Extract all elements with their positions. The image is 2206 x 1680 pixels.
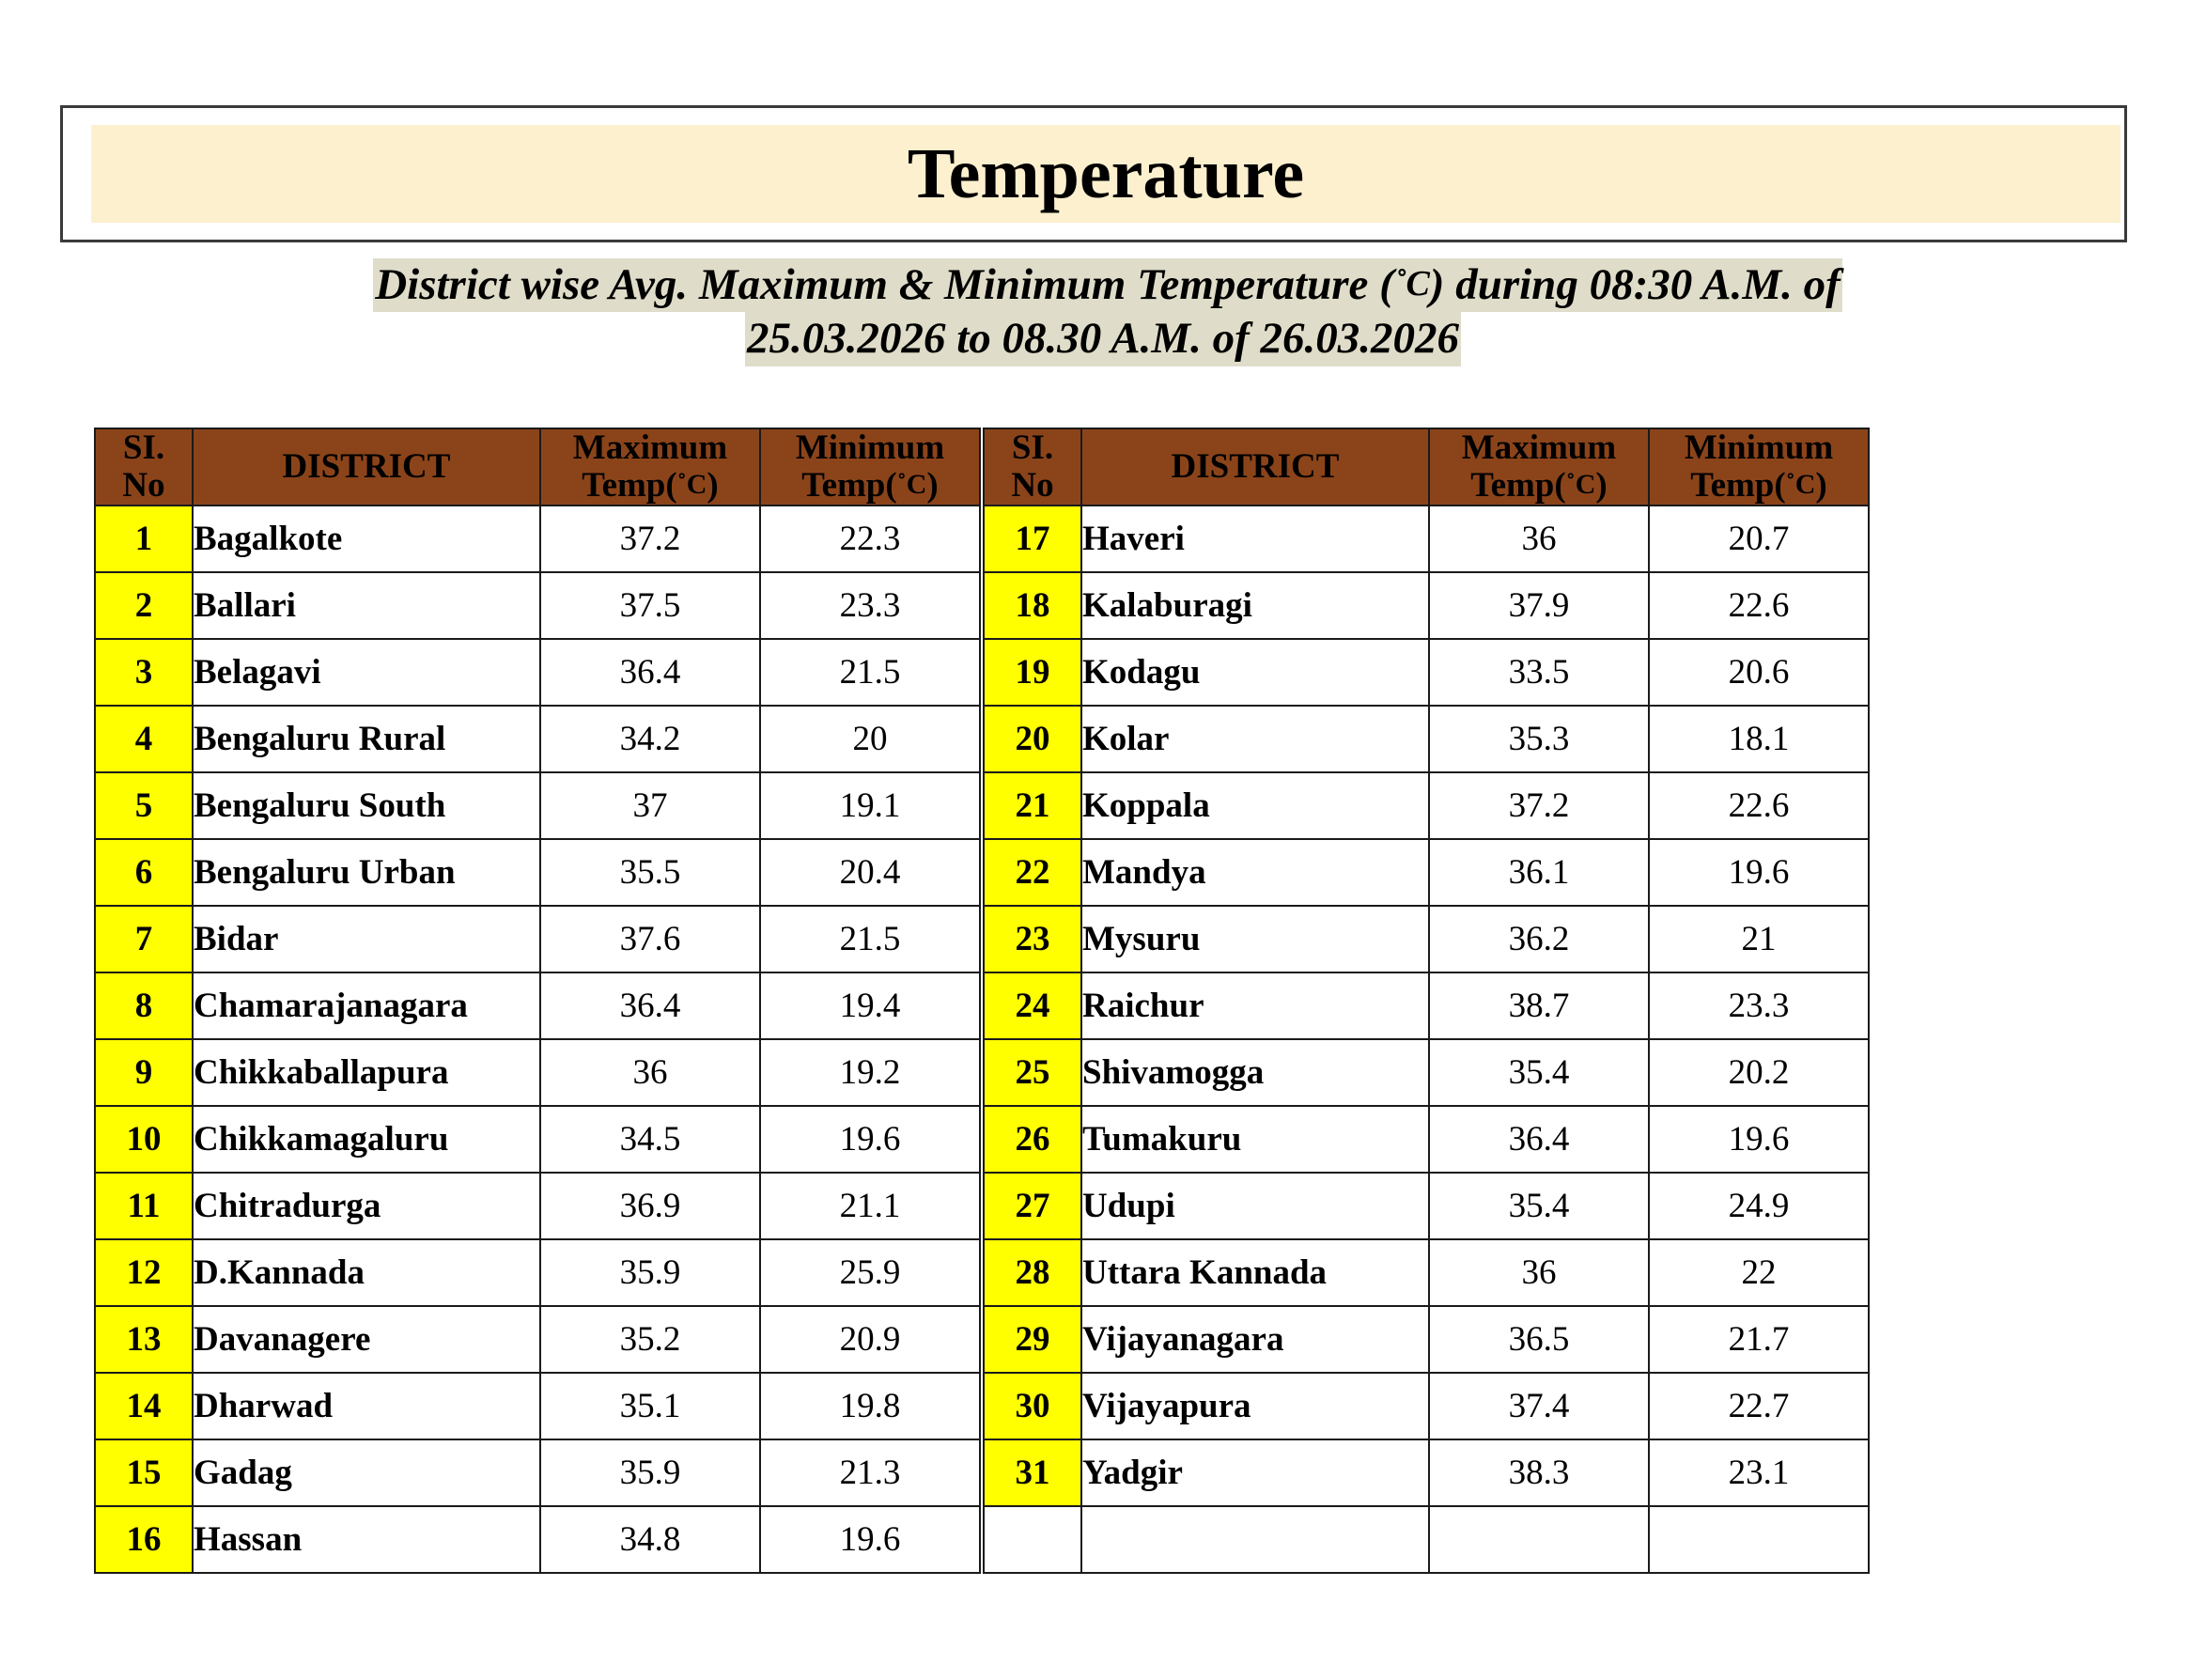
cell-district: Vijayanagara	[1081, 1306, 1429, 1373]
cell-max-temp: 35.9	[540, 1439, 760, 1506]
cell-max-temp: 37	[540, 772, 760, 839]
cell-min-temp: 20.6	[1649, 639, 1869, 706]
table-row: 19Kodagu33.520.6	[984, 639, 1869, 706]
cell-empty	[1429, 1506, 1649, 1573]
cell-min-temp: 19.6	[1649, 1106, 1869, 1173]
header-min-line2-pre: Temp(	[801, 466, 896, 505]
cell-district: Bengaluru South	[193, 772, 540, 839]
cell-max-temp: 37.9	[1429, 572, 1649, 639]
cell-sl-no: 8	[95, 972, 193, 1039]
table-row: 13Davanagere35.220.9	[95, 1306, 980, 1373]
cell-district: Mysuru	[1081, 906, 1429, 972]
cell-max-temp: 33.5	[1429, 639, 1649, 706]
cell-min-temp: 19.4	[760, 972, 980, 1039]
cell-district: Hassan	[193, 1506, 540, 1573]
title-banner-inner: Temperature	[91, 125, 2121, 223]
table-header-right: SI.No DISTRICT MaximumTemp(˚C) MinimumTe…	[984, 428, 1869, 506]
cell-min-temp: 21.3	[760, 1439, 980, 1506]
cell-district: Belagavi	[193, 639, 540, 706]
cell-sl-no: 6	[95, 839, 193, 906]
cell-sl-no: 16	[95, 1506, 193, 1573]
cell-min-temp: 24.9	[1649, 1173, 1869, 1239]
table-row: 23Mysuru36.221	[984, 906, 1869, 972]
header-max-line2-pre: Temp(	[1470, 466, 1565, 505]
cell-min-temp: 20.2	[1649, 1039, 1869, 1106]
cell-min-temp: 19.1	[760, 772, 980, 839]
cell-district: Yadgir	[1081, 1439, 1429, 1506]
temperature-report-page: Temperature District wise Avg. Maximum &…	[0, 0, 2206, 1680]
cell-empty	[1649, 1506, 1869, 1573]
header-district-left: DISTRICT	[193, 428, 540, 506]
table-body-left: 1Bagalkote37.222.32Ballari37.523.33Belag…	[95, 506, 980, 1573]
cell-sl-no: 21	[984, 772, 1081, 839]
cell-max-temp: 34.8	[540, 1506, 760, 1573]
cell-sl-no: 4	[95, 706, 193, 772]
cell-sl-no: 10	[95, 1106, 193, 1173]
cell-max-temp: 36	[1429, 1239, 1649, 1306]
table-row: 8Chamarajanagara36.419.4	[95, 972, 980, 1039]
table-row: 10Chikkamagaluru34.519.6	[95, 1106, 980, 1173]
header-min-line2-pre: Temp(	[1690, 466, 1785, 505]
cell-district: Bengaluru Rural	[193, 706, 540, 772]
header-sl-no-left: SI.No	[95, 428, 193, 506]
cell-min-temp: 23.3	[1649, 972, 1869, 1039]
cell-min-temp: 22.6	[1649, 772, 1869, 839]
cell-min-temp: 20.4	[760, 839, 980, 906]
cell-min-temp: 19.6	[760, 1106, 980, 1173]
table-row-spacer	[984, 1506, 1869, 1573]
header-max-temp-left: MaximumTemp(˚C)	[540, 428, 760, 506]
cell-sl-no: 17	[984, 506, 1081, 572]
cell-max-temp: 38.7	[1429, 972, 1649, 1039]
table-row: 14Dharwad35.119.8	[95, 1373, 980, 1439]
cell-min-temp: 18.1	[1649, 706, 1869, 772]
cell-sl-no: 26	[984, 1106, 1081, 1173]
cell-sl-no: 9	[95, 1039, 193, 1106]
cell-sl-no: 28	[984, 1239, 1081, 1306]
cell-district: Kalaburagi	[1081, 572, 1429, 639]
cell-sl-no: 27	[984, 1173, 1081, 1239]
table-row: 11Chitradurga36.921.1	[95, 1173, 980, 1239]
page-title: Temperature	[908, 138, 1304, 210]
table-row: 4Bengaluru Rural34.220	[95, 706, 980, 772]
cell-district: Udupi	[1081, 1173, 1429, 1239]
cell-max-temp: 36.1	[1429, 839, 1649, 906]
title-banner: Temperature	[60, 105, 2127, 242]
cell-sl-no: 3	[95, 639, 193, 706]
header-sl-line2: No	[1011, 466, 1053, 505]
cell-min-temp: 22.6	[1649, 572, 1869, 639]
table-row: 2Ballari37.523.3	[95, 572, 980, 639]
table-row: 1Bagalkote37.222.3	[95, 506, 980, 572]
cell-min-temp: 20	[760, 706, 980, 772]
cell-min-temp: 21.1	[760, 1173, 980, 1239]
cell-district: Mandya	[1081, 839, 1429, 906]
cell-sl-no: 7	[95, 906, 193, 972]
cell-empty	[984, 1506, 1081, 1573]
degree-celsius-icon: ˚C	[897, 469, 927, 500]
degree-celsius-icon: ˚C	[677, 469, 707, 500]
header-row-left: SI.No DISTRICT MaximumTemp(˚C) MinimumTe…	[95, 428, 980, 506]
cell-sl-no: 1	[95, 506, 193, 572]
cell-sl-no: 20	[984, 706, 1081, 772]
header-min-line2-post: )	[926, 466, 938, 505]
header-max-line1: Maximum	[573, 428, 727, 467]
cell-min-temp: 23.1	[1649, 1439, 1869, 1506]
cell-min-temp: 25.9	[760, 1239, 980, 1306]
header-row-right: SI.No DISTRICT MaximumTemp(˚C) MinimumTe…	[984, 428, 1869, 506]
header-max-line2-pre: Temp(	[582, 466, 676, 505]
header-max-line2-post: )	[707, 466, 718, 505]
cell-max-temp: 36.2	[1429, 906, 1649, 972]
cell-max-temp: 35.4	[1429, 1173, 1649, 1239]
cell-max-temp: 35.5	[540, 839, 760, 906]
cell-min-temp: 22	[1649, 1239, 1869, 1306]
cell-max-temp: 36.9	[540, 1173, 760, 1239]
table-row: 3Belagavi36.421.5	[95, 639, 980, 706]
temperature-table-right: SI.No DISTRICT MaximumTemp(˚C) MinimumTe…	[983, 428, 1870, 1574]
cell-sl-no: 11	[95, 1173, 193, 1239]
cell-min-temp: 19.6	[760, 1506, 980, 1573]
table-row: 29Vijayanagara36.521.7	[984, 1306, 1869, 1373]
cell-district: Chikkaballapura	[193, 1039, 540, 1106]
cell-max-temp: 37.4	[1429, 1373, 1649, 1439]
subtitle-block: District wise Avg. Maximum & Minimum Tem…	[0, 258, 2206, 366]
cell-sl-no: 18	[984, 572, 1081, 639]
cell-min-temp: 22.7	[1649, 1373, 1869, 1439]
cell-sl-no: 14	[95, 1373, 193, 1439]
cell-max-temp: 35.2	[540, 1306, 760, 1373]
cell-min-temp: 19.6	[1649, 839, 1869, 906]
header-district-right: DISTRICT	[1081, 428, 1429, 506]
table-row: 31Yadgir38.323.1	[984, 1439, 1869, 1506]
header-min-line2-post: )	[1815, 466, 1826, 505]
table-row: 7Bidar37.621.5	[95, 906, 980, 972]
cell-max-temp: 37.2	[540, 506, 760, 572]
table-row: 22Mandya36.119.6	[984, 839, 1869, 906]
cell-min-temp: 19.8	[760, 1373, 980, 1439]
degree-celsius-symbol: ˚C	[1394, 264, 1430, 303]
header-min-line1: Minimum	[1685, 428, 1833, 467]
table-row: 27Udupi35.424.9	[984, 1173, 1869, 1239]
cell-max-temp: 37.5	[540, 572, 760, 639]
cell-district: Bidar	[193, 906, 540, 972]
cell-max-temp: 34.5	[540, 1106, 760, 1173]
cell-district: Vijayapura	[1081, 1373, 1429, 1439]
cell-empty	[1081, 1506, 1429, 1573]
subtitle-line-1: District wise Avg. Maximum & Minimum Tem…	[373, 258, 1842, 312]
cell-sl-no: 5	[95, 772, 193, 839]
cell-max-temp: 35.4	[1429, 1039, 1649, 1106]
cell-district: Gadag	[193, 1439, 540, 1506]
cell-district: Chitradurga	[193, 1173, 540, 1239]
cell-district: Raichur	[1081, 972, 1429, 1039]
cell-sl-no: 23	[984, 906, 1081, 972]
table-row: 18Kalaburagi37.922.6	[984, 572, 1869, 639]
cell-min-temp: 21.5	[760, 906, 980, 972]
tables-area: SI.No DISTRICT MaximumTemp(˚C) MinimumTe…	[94, 428, 2123, 1574]
cell-max-temp: 36.4	[540, 639, 760, 706]
cell-max-temp: 38.3	[1429, 1439, 1649, 1506]
table-row: 15Gadag35.921.3	[95, 1439, 980, 1506]
table-row: 17Haveri3620.7	[984, 506, 1869, 572]
cell-max-temp: 36.5	[1429, 1306, 1649, 1373]
cell-min-temp: 21	[1649, 906, 1869, 972]
cell-sl-no: 15	[95, 1439, 193, 1506]
header-sl-line1: SI.	[1012, 428, 1053, 467]
cell-sl-no: 25	[984, 1039, 1081, 1106]
cell-sl-no: 2	[95, 572, 193, 639]
degree-celsius-icon: ˚C	[1566, 469, 1596, 500]
table-row: 25Shivamogga35.420.2	[984, 1039, 1869, 1106]
header-max-line2-post: )	[1595, 466, 1607, 505]
cell-min-temp: 20.7	[1649, 506, 1869, 572]
header-min-temp-left: MinimumTemp(˚C)	[760, 428, 980, 506]
cell-district: Kodagu	[1081, 639, 1429, 706]
temperature-table-left: SI.No DISTRICT MaximumTemp(˚C) MinimumTe…	[94, 428, 981, 1574]
cell-max-temp: 36.4	[540, 972, 760, 1039]
cell-min-temp: 19.2	[760, 1039, 980, 1106]
header-min-temp-right: MinimumTemp(˚C)	[1649, 428, 1869, 506]
cell-sl-no: 13	[95, 1306, 193, 1373]
cell-sl-no: 29	[984, 1306, 1081, 1373]
cell-min-temp: 20.9	[760, 1306, 980, 1373]
cell-sl-no: 22	[984, 839, 1081, 906]
subtitle-line-2: 25.03.2026 to 08.30 A.M. of 26.03.2026	[745, 312, 1461, 366]
header-sl-line2: No	[122, 466, 164, 505]
cell-sl-no: 30	[984, 1373, 1081, 1439]
header-sl-no-right: SI.No	[984, 428, 1081, 506]
cell-min-temp: 21.5	[760, 639, 980, 706]
cell-max-temp: 35.9	[540, 1239, 760, 1306]
cell-min-temp: 22.3	[760, 506, 980, 572]
subtitle-line-1-post: ) during 08:30 A.M. of	[1430, 260, 1841, 309]
header-min-line1: Minimum	[796, 428, 944, 467]
cell-max-temp: 36	[540, 1039, 760, 1106]
cell-district: Chikkamagaluru	[193, 1106, 540, 1173]
table-header-left: SI.No DISTRICT MaximumTemp(˚C) MinimumTe…	[95, 428, 980, 506]
table-row: 21Koppala37.222.6	[984, 772, 1869, 839]
cell-sl-no: 12	[95, 1239, 193, 1306]
table-row: 9Chikkaballapura3619.2	[95, 1039, 980, 1106]
cell-max-temp: 36.4	[1429, 1106, 1649, 1173]
table-row: 12D.Kannada35.925.9	[95, 1239, 980, 1306]
table-row: 5Bengaluru South3719.1	[95, 772, 980, 839]
table-row: 28Uttara Kannada3622	[984, 1239, 1869, 1306]
cell-district: Davanagere	[193, 1306, 540, 1373]
cell-district: Kolar	[1081, 706, 1429, 772]
subtitle-line-1-pre: District wise Avg. Maximum & Minimum Tem…	[375, 260, 1394, 309]
table-row: 6Bengaluru Urban35.520.4	[95, 839, 980, 906]
cell-max-temp: 36	[1429, 506, 1649, 572]
cell-sl-no: 31	[984, 1439, 1081, 1506]
cell-district: D.Kannada	[193, 1239, 540, 1306]
cell-sl-no: 24	[984, 972, 1081, 1039]
header-max-line1: Maximum	[1462, 428, 1616, 467]
cell-district: Shivamogga	[1081, 1039, 1429, 1106]
cell-max-temp: 37.6	[540, 906, 760, 972]
cell-district: Chamarajanagara	[193, 972, 540, 1039]
header-sl-line1: SI.	[123, 428, 164, 467]
cell-district: Bagalkote	[193, 506, 540, 572]
cell-district: Uttara Kannada	[1081, 1239, 1429, 1306]
cell-district: Tumakuru	[1081, 1106, 1429, 1173]
header-max-temp-right: MaximumTemp(˚C)	[1429, 428, 1649, 506]
cell-district: Bengaluru Urban	[193, 839, 540, 906]
cell-sl-no: 19	[984, 639, 1081, 706]
cell-district: Koppala	[1081, 772, 1429, 839]
degree-celsius-icon: ˚C	[1786, 469, 1816, 500]
table-row: 26Tumakuru36.419.6	[984, 1106, 1869, 1173]
cell-max-temp: 35.3	[1429, 706, 1649, 772]
cell-district: Dharwad	[193, 1373, 540, 1439]
table-body-right: 17Haveri3620.718Kalaburagi37.922.619Koda…	[984, 506, 1869, 1573]
cell-max-temp: 35.1	[540, 1373, 760, 1439]
cell-min-temp: 23.3	[760, 572, 980, 639]
table-row: 30Vijayapura37.422.7	[984, 1373, 1869, 1439]
cell-district: Haveri	[1081, 506, 1429, 572]
table-row: 16Hassan34.819.6	[95, 1506, 980, 1573]
cell-max-temp: 37.2	[1429, 772, 1649, 839]
table-row: 20Kolar35.318.1	[984, 706, 1869, 772]
cell-district: Ballari	[193, 572, 540, 639]
cell-min-temp: 21.7	[1649, 1306, 1869, 1373]
cell-max-temp: 34.2	[540, 706, 760, 772]
table-row: 24Raichur38.723.3	[984, 972, 1869, 1039]
